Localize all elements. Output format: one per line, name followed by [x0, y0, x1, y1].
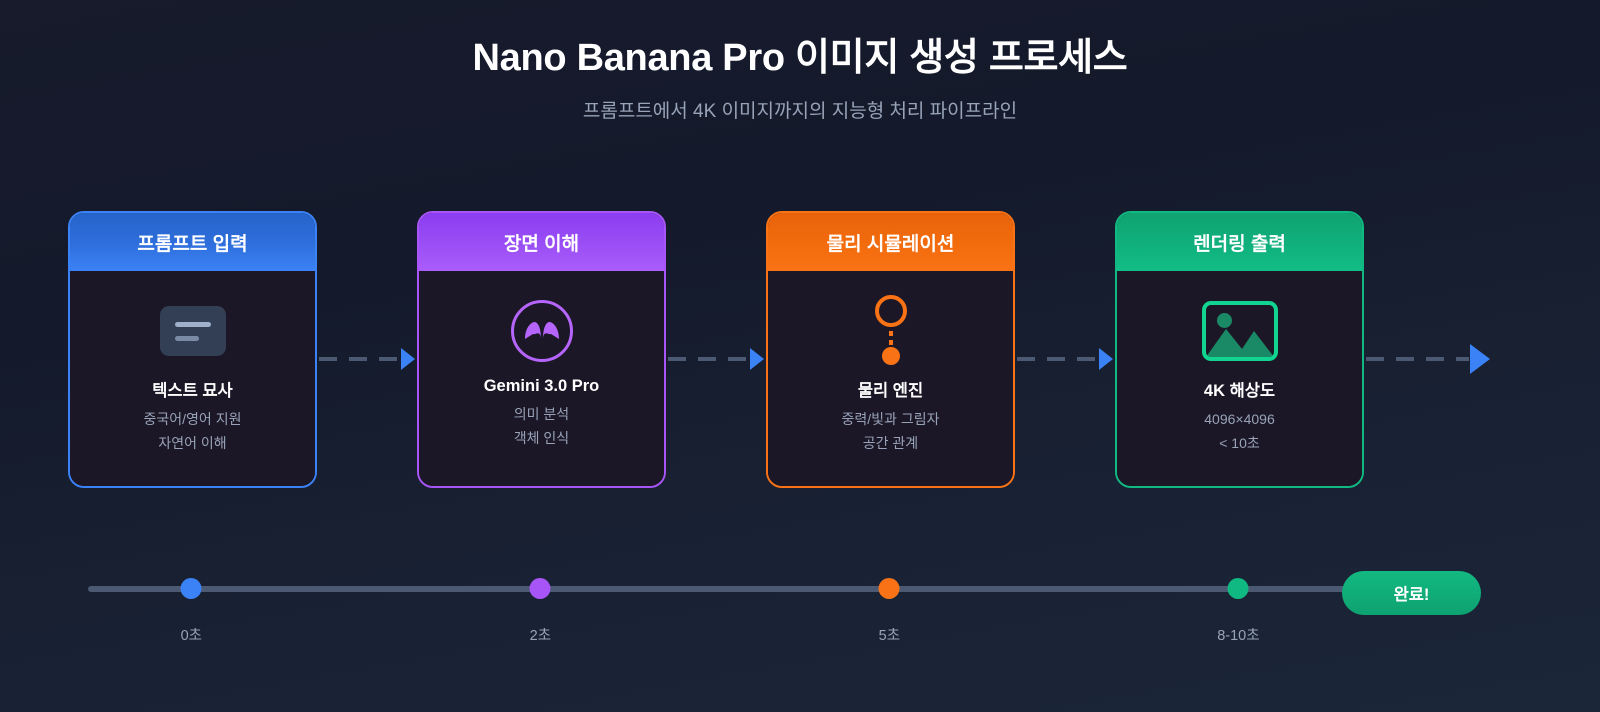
timeline-node-2[interactable] — [879, 578, 900, 599]
stage-card-scene-understanding[interactable]: 장면 이해 Gemini 3.0 Pro 의미 분석 객체 인식 — [417, 211, 666, 488]
completion-badge[interactable]: 완료! — [1342, 571, 1481, 615]
pendulum-icon — [868, 295, 914, 367]
eyes-circle-icon — [511, 300, 573, 362]
stage-card-physics-simulation[interactable]: 물리 시뮬레이션 물리 엔진 중력/빛과 그림자 공간 관계 — [766, 211, 1015, 488]
stage-body: 4K 해상도 4096×4096 < 10초 — [1117, 271, 1362, 486]
timeline-node-0[interactable] — [181, 578, 202, 599]
text-line-short — [175, 336, 199, 341]
timeline-label-3: 8-10초 — [1217, 624, 1259, 645]
stage-card-prompt-input[interactable]: 프롬프트 입력 텍스트 묘사 중국어/영어 지원 자연어 이해 — [68, 211, 317, 488]
arrow-right-icon — [1470, 344, 1490, 374]
stage-sub-label-2: 공간 관계 — [863, 433, 918, 455]
stage-main-label: 물리 엔진 — [858, 377, 923, 401]
stage-title: 렌더링 출력 — [1117, 213, 1362, 271]
page-title: Nano Banana Pro 이미지 생성 프로세스 — [0, 36, 1600, 82]
stage-sub-label-1: 중력/빛과 그림자 — [842, 409, 940, 431]
stage-main-label: 텍스트 묘사 — [152, 377, 232, 401]
connector-dashes — [1017, 357, 1098, 361]
stage-sub-label-2: < 10초 — [1219, 433, 1260, 455]
stage-sub-label-2: 자연어 이해 — [158, 433, 226, 455]
connector-dashes — [668, 357, 749, 361]
text-lines-icon — [160, 306, 226, 356]
pendulum-ring — [875, 295, 907, 327]
stage-sub-label-1: 의미 분석 — [514, 404, 569, 426]
timeline-label-0: 0초 — [181, 624, 202, 645]
connector-arrow-3 — [1017, 349, 1113, 369]
eyes-glyph — [524, 321, 560, 339]
icon-container — [868, 293, 914, 369]
timeline-track — [88, 586, 1348, 592]
stage-main-label: 4K 해상도 — [1204, 377, 1275, 401]
connector-arrow-final — [1366, 349, 1490, 369]
timeline-node-1[interactable] — [530, 578, 551, 599]
timeline: 0초 2초 5초 8-10초 — [88, 586, 1348, 592]
icon-container — [160, 293, 226, 369]
stage-sub-label-1: 4096×4096 — [1204, 409, 1274, 431]
page-header: Nano Banana Pro 이미지 생성 프로세스 프롬프트에서 4K 이미… — [0, 0, 1600, 123]
connector-dashes — [319, 357, 400, 361]
text-line-long — [175, 322, 211, 327]
icon-container — [1202, 293, 1278, 369]
timeline-label-1: 2초 — [530, 624, 551, 645]
stage-body: 텍스트 묘사 중국어/영어 지원 자연어 이해 — [70, 271, 315, 486]
stage-sub-label-2: 객체 인식 — [514, 428, 569, 450]
pipeline-diagram: 프롬프트 입력 텍스트 묘사 중국어/영어 지원 자연어 이해 장면 이해 — [68, 211, 1488, 491]
image-icon-mountains — [1206, 305, 1274, 357]
connector-dashes — [1366, 357, 1469, 361]
connector-arrow-2 — [668, 349, 764, 369]
stage-main-label: Gemini 3.0 Pro — [484, 377, 600, 396]
stage-sub-label-1: 중국어/영어 지원 — [144, 409, 242, 431]
arrow-right-icon — [1099, 348, 1113, 370]
page-subtitle: 프롬프트에서 4K 이미지까지의 지능형 처리 파이프라인 — [0, 96, 1600, 123]
stage-title: 물리 시뮬레이션 — [768, 213, 1013, 271]
stage-card-render-output[interactable]: 렌더링 출력 4K 해상도 4096×4096 < 10초 — [1115, 211, 1364, 488]
pendulum-dashed-stem — [889, 331, 893, 347]
stage-body: 물리 엔진 중력/빛과 그림자 공간 관계 — [768, 271, 1013, 486]
stage-title: 프롬프트 입력 — [70, 213, 315, 271]
icon-container — [511, 293, 573, 369]
image-icon — [1202, 301, 1278, 361]
arrow-right-icon — [750, 348, 764, 370]
timeline-label-2: 5초 — [879, 624, 900, 645]
arrow-right-icon — [401, 348, 415, 370]
timeline-node-3[interactable] — [1228, 578, 1249, 599]
connector-arrow-1 — [319, 349, 415, 369]
stage-body: Gemini 3.0 Pro 의미 분석 객체 인식 — [419, 271, 664, 486]
pendulum-ball — [882, 347, 900, 365]
stage-title: 장면 이해 — [419, 213, 664, 271]
